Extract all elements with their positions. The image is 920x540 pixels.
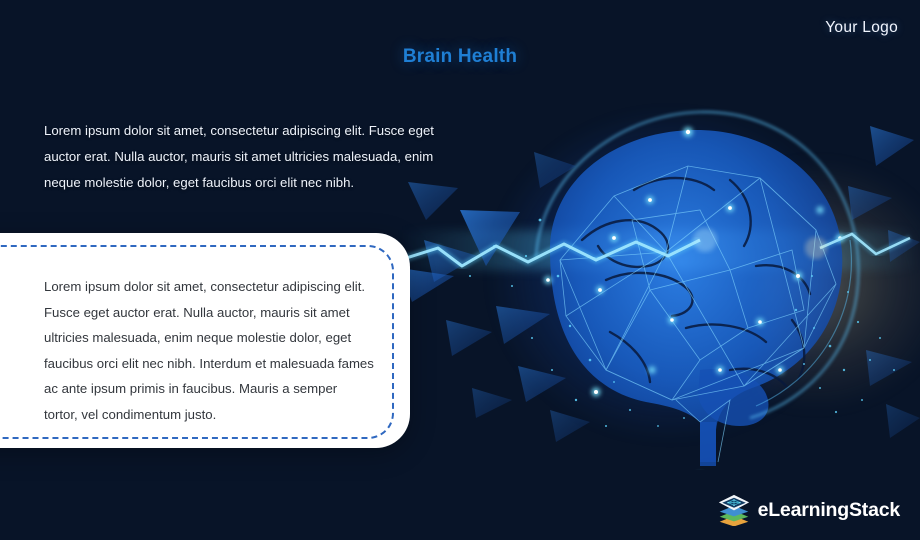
footer-brand-name: eLearningStack — [758, 499, 900, 522]
content-card-paragraph: Lorem ipsum dolor sit amet, consectetur … — [44, 274, 374, 427]
brain-warm-glow — [760, 160, 920, 410]
brain-sulci — [582, 178, 810, 386]
intro-paragraph: Lorem ipsum dolor sit amet, consectetur … — [44, 118, 448, 196]
brain-wireframe — [560, 166, 836, 462]
layer-stack-icon — [717, 494, 751, 526]
lightning-bolt — [400, 228, 910, 266]
brain-glow — [490, 110, 850, 440]
slide-canvas: Your Logo Brain Health Lorem ipsum dolor… — [0, 0, 920, 540]
brand-placeholder-top-right: Your Logo — [825, 19, 898, 37]
scatter-triangles-right — [848, 126, 920, 438]
brain-nodes — [544, 127, 844, 470]
page-title: Brain Health — [0, 46, 920, 68]
particle-dust — [469, 219, 895, 427]
brain-body — [550, 130, 842, 466]
brain-halo — [536, 112, 858, 418]
lightning-glow — [400, 230, 920, 270]
brain-vector — [400, 70, 920, 470]
footer-brand[interactable]: eLearningStack — [717, 494, 900, 526]
low-poly-brain-illustration — [400, 70, 920, 470]
page-title-text: Brain Health — [403, 46, 517, 68]
